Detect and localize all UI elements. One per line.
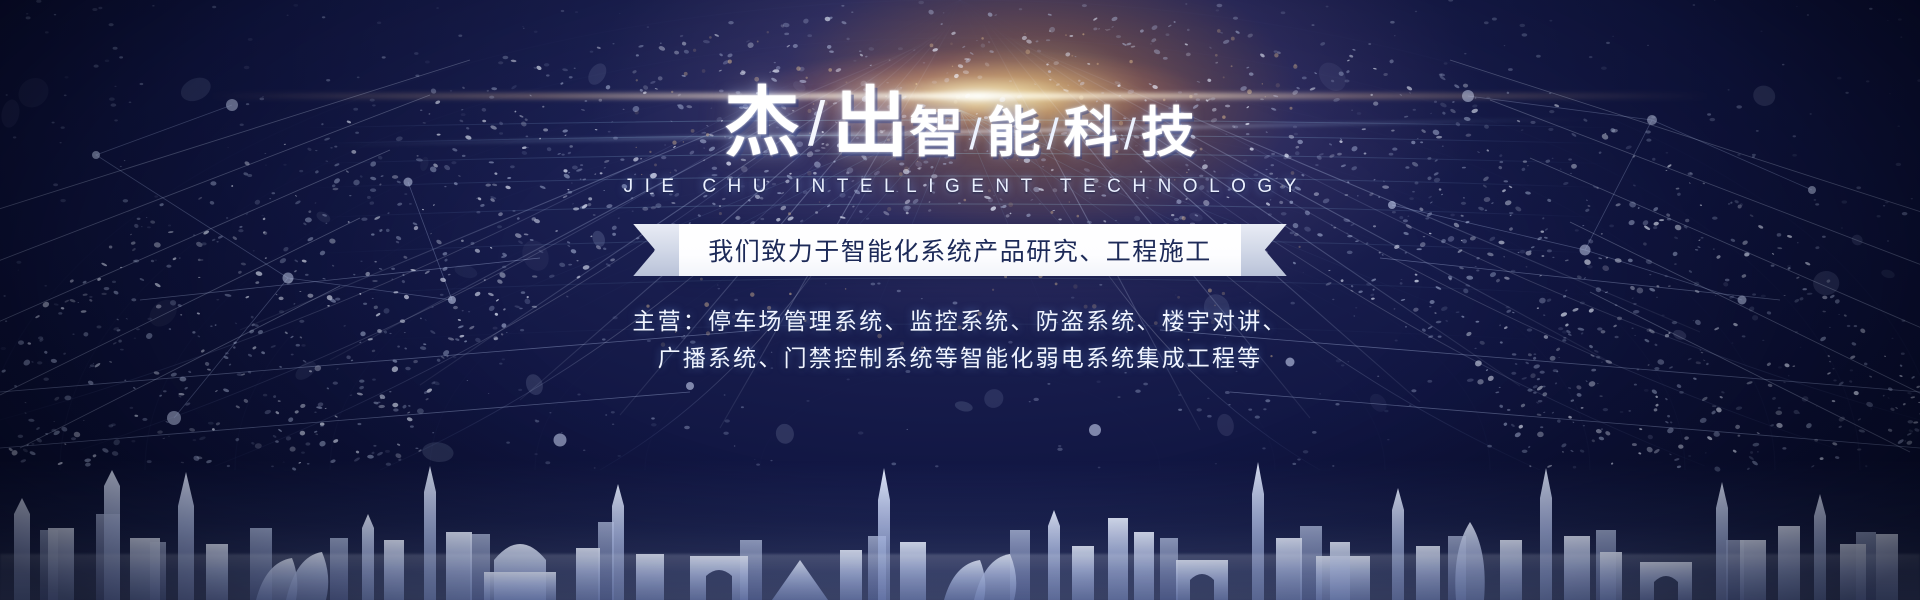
title-slash-1: / (808, 94, 825, 156)
banner-content: 杰 / 出 智 / 能 / 科 / 技 JIE CHU INTELLIGENT … (0, 0, 1920, 600)
ribbon-body: 我们致力于智能化系统产品研究、工程施工 (678, 224, 1242, 276)
ribbon-banner: 我们致力于智能化系统产品研究、工程施工 (633, 224, 1287, 276)
title-char-4: 能 (987, 106, 1042, 160)
title-char-3: 智 (909, 106, 964, 160)
description-line-1: 主营：停车场管理系统、监控系统、防盗系统、楼宇对讲、 (632, 304, 1287, 341)
title-char-1: 杰 (724, 86, 801, 162)
ribbon-slogan: 我们致力于智能化系统产品研究、工程施工 (708, 232, 1212, 268)
title-slash-3: / (1047, 113, 1059, 157)
ribbon-tail-left (633, 224, 679, 276)
title-slash-2: / (969, 113, 981, 157)
main-title: 杰 / 出 智 / 能 / 科 / 技 (724, 86, 1196, 162)
hero-banner: 杰 / 出 智 / 能 / 科 / 技 JIE CHU INTELLIGENT … (0, 0, 1920, 600)
english-subtitle: JIE CHU INTELLIGENT TECHNOLOGY (612, 176, 1308, 198)
ribbon-tail-right (1241, 224, 1287, 276)
title-char-5: 科 (1064, 106, 1119, 160)
title-char-2: 出 (832, 86, 909, 162)
title-slash-4: / (1124, 113, 1136, 157)
title-char-6: 技 (1141, 106, 1196, 160)
description-line-2: 广播系统、门禁控制系统等智能化弱电系统集成工程等 (632, 341, 1287, 378)
business-description: 主营：停车场管理系统、监控系统、防盗系统、楼宇对讲、 广播系统、门禁控制系统等智… (632, 304, 1287, 379)
